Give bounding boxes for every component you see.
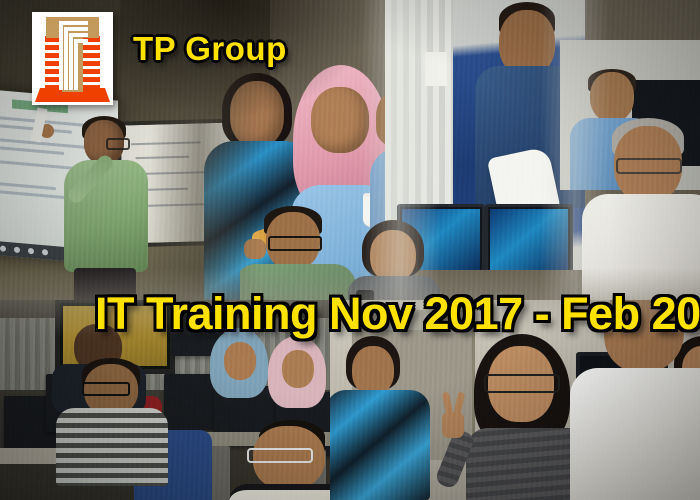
computer-monitor <box>485 204 573 270</box>
eyeglasses <box>484 374 560 393</box>
eyeglasses <box>106 138 130 150</box>
screen-text-line <box>0 182 56 190</box>
head <box>230 81 284 147</box>
head <box>352 346 394 396</box>
head <box>590 72 634 122</box>
person-woman-batik-seated <box>330 336 432 498</box>
eyeglasses <box>616 158 682 174</box>
taskbar-icon <box>28 248 34 255</box>
pinned-note <box>425 52 447 86</box>
taskbar-icon <box>42 249 48 256</box>
training-banner: TP Group IT Training Nov 2017 - Feb 2018 <box>0 0 700 500</box>
tp-group-logo <box>32 12 113 105</box>
eyeglasses <box>82 382 130 396</box>
face <box>224 342 256 380</box>
patterned-blouse <box>330 390 430 500</box>
hand <box>442 412 464 438</box>
eyeglasses <box>268 236 322 251</box>
page-title: IT Training Nov 2017 - Feb 2018 <box>95 288 700 340</box>
white-shirt <box>570 368 700 500</box>
person-trainee-blue-hijab <box>210 328 272 412</box>
face <box>282 350 314 388</box>
brand-title: TP Group <box>133 30 287 68</box>
taskbar-icon <box>0 245 6 252</box>
person-instructor <box>60 120 152 300</box>
striped-polo-shirt <box>56 408 168 486</box>
head <box>370 230 416 282</box>
temple-pyramid-icon <box>32 12 113 105</box>
eyeglasses <box>247 448 313 463</box>
green-polo-shirt <box>64 160 148 272</box>
head <box>311 87 369 153</box>
person-trainee-striped-shirt <box>62 358 162 478</box>
taskbar-icon <box>14 247 20 254</box>
person-trainee-pink-hijab <box>268 336 330 426</box>
screen-text-line <box>0 146 64 155</box>
